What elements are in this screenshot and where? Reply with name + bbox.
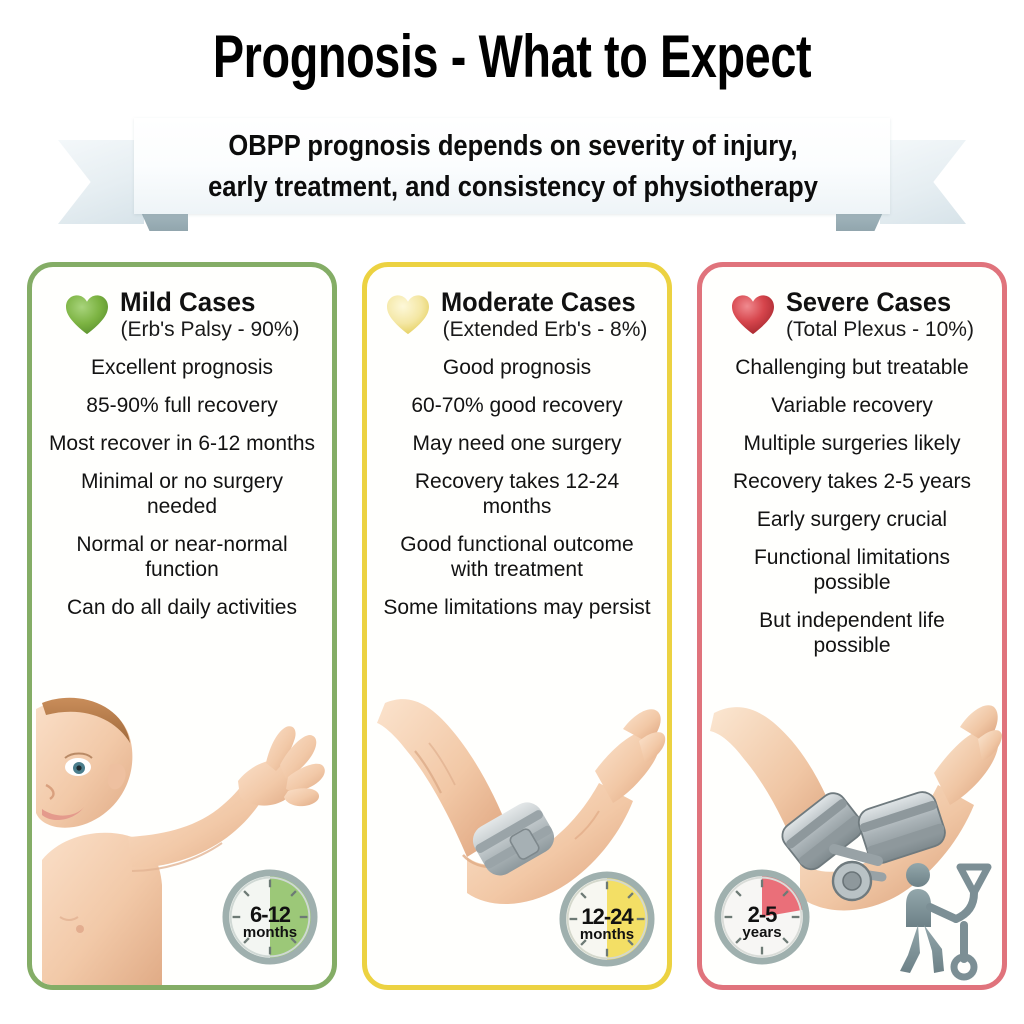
list-item: Early surgery crucial: [714, 507, 990, 532]
list-item: Recovery takes 12-24 months: [379, 469, 655, 519]
list-item: Can do all daily activities: [44, 595, 320, 620]
list-item: Recovery takes 2-5 years: [714, 469, 990, 494]
list-item: Good prognosis: [379, 355, 655, 380]
timeline-clock-badge: 6-12 months: [222, 869, 318, 965]
banner-ribbon: OBPP prognosis depends on severity of in…: [58, 118, 966, 236]
list-item: Multiple surgeries likely: [714, 431, 990, 456]
card-mild-cases[interactable]: Mild Cases (Erb's Palsy - 90%) Excellent…: [27, 262, 337, 990]
list-item: Variable recovery: [714, 393, 990, 418]
list-item: But independent life possible: [714, 608, 990, 658]
list-item: 85-90% full recovery: [44, 393, 320, 418]
point-list: Good prognosis 60-70% good recovery May …: [379, 355, 655, 620]
heart-icon: [385, 294, 431, 336]
timeline-clock-badge: 12-24 months: [559, 871, 655, 967]
banner-line-1: OBPP prognosis depends on severity of in…: [192, 126, 834, 167]
card-header: Mild Cases (Erb's Palsy - 90%): [44, 287, 320, 343]
card-header: Severe Cases (Total Plexus - 10%): [714, 287, 990, 343]
person-walking-with-mobility-aid-icon: [900, 863, 988, 977]
card-title: Mild Cases: [120, 287, 292, 317]
list-item: Most recover in 6-12 months: [44, 431, 320, 456]
list-item: Challenging but treatable: [714, 355, 990, 380]
ribbon-tail-left: [58, 140, 144, 224]
list-item: Normal or near-normal function: [44, 532, 320, 582]
clock-unit: months: [222, 924, 318, 941]
card-severe-cases[interactable]: Severe Cases (Total Plexus - 10%) Challe…: [697, 262, 1007, 990]
banner-subtitle: OBPP prognosis depends on severity of in…: [192, 126, 834, 208]
point-list: Challenging but treatable Variable recov…: [714, 355, 990, 658]
heart-icon: [730, 294, 776, 336]
list-item: May need one surgery: [379, 431, 655, 456]
timeline-clock-badge: 2-5 years: [714, 869, 810, 965]
card-header: Moderate Cases (Extended Erb's - 8%): [379, 287, 655, 343]
card-subtitle: (Total Plexus - 10%): [786, 317, 974, 343]
page-title: Prognosis - What to Expect: [113, 22, 912, 91]
list-item: Some limitations may persist: [379, 595, 655, 620]
list-item: Minimal or no surgery needed: [44, 469, 320, 519]
card-title: Moderate Cases: [441, 287, 636, 317]
heart-icon: [64, 294, 110, 336]
clock-unit: months: [559, 926, 655, 943]
card-subtitle: (Extended Erb's - 8%): [441, 317, 648, 343]
card-title: Severe Cases: [786, 287, 963, 317]
point-list: Excellent prognosis 85-90% full recovery…: [44, 355, 320, 620]
card-moderate-cases[interactable]: Moderate Cases (Extended Erb's - 8%) Goo…: [362, 262, 672, 990]
list-item: 60-70% good recovery: [379, 393, 655, 418]
list-item: Good functional outcome with treatment: [379, 532, 655, 582]
list-item: Functional limitations possible: [714, 545, 990, 595]
ribbon-tail-right: [880, 140, 966, 224]
banner-line-2: early treatment, and consistency of phys…: [192, 167, 834, 208]
list-item: Excellent prognosis: [44, 355, 320, 380]
clock-unit: years: [714, 924, 810, 941]
card-subtitle: (Erb's Palsy - 90%): [120, 317, 299, 343]
